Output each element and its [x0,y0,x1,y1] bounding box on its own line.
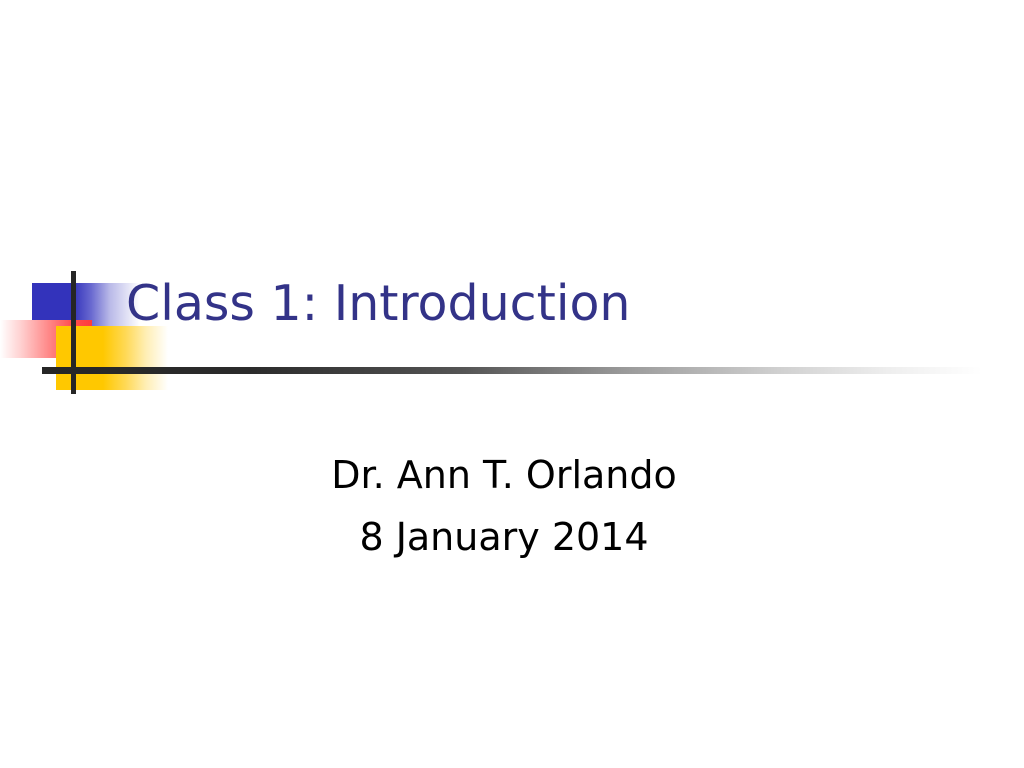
decoration-blue-square [32,283,140,337]
decoration-vertical-rule [71,271,76,394]
decoration-yellow-square [56,326,168,390]
decoration-horizontal-rule [42,367,982,374]
slide-subtitle: Dr. Ann T. Orlando 8 January 2014 [112,444,896,568]
subtitle-line-author: Dr. Ann T. Orlando [112,444,896,506]
subtitle-line-date: 8 January 2014 [112,506,896,568]
slide-title: Class 1: Introduction [126,274,966,334]
decoration-red-rectangle [0,320,92,358]
title-slide: Class 1: Introduction Dr. Ann T. Orlando… [0,0,1024,768]
